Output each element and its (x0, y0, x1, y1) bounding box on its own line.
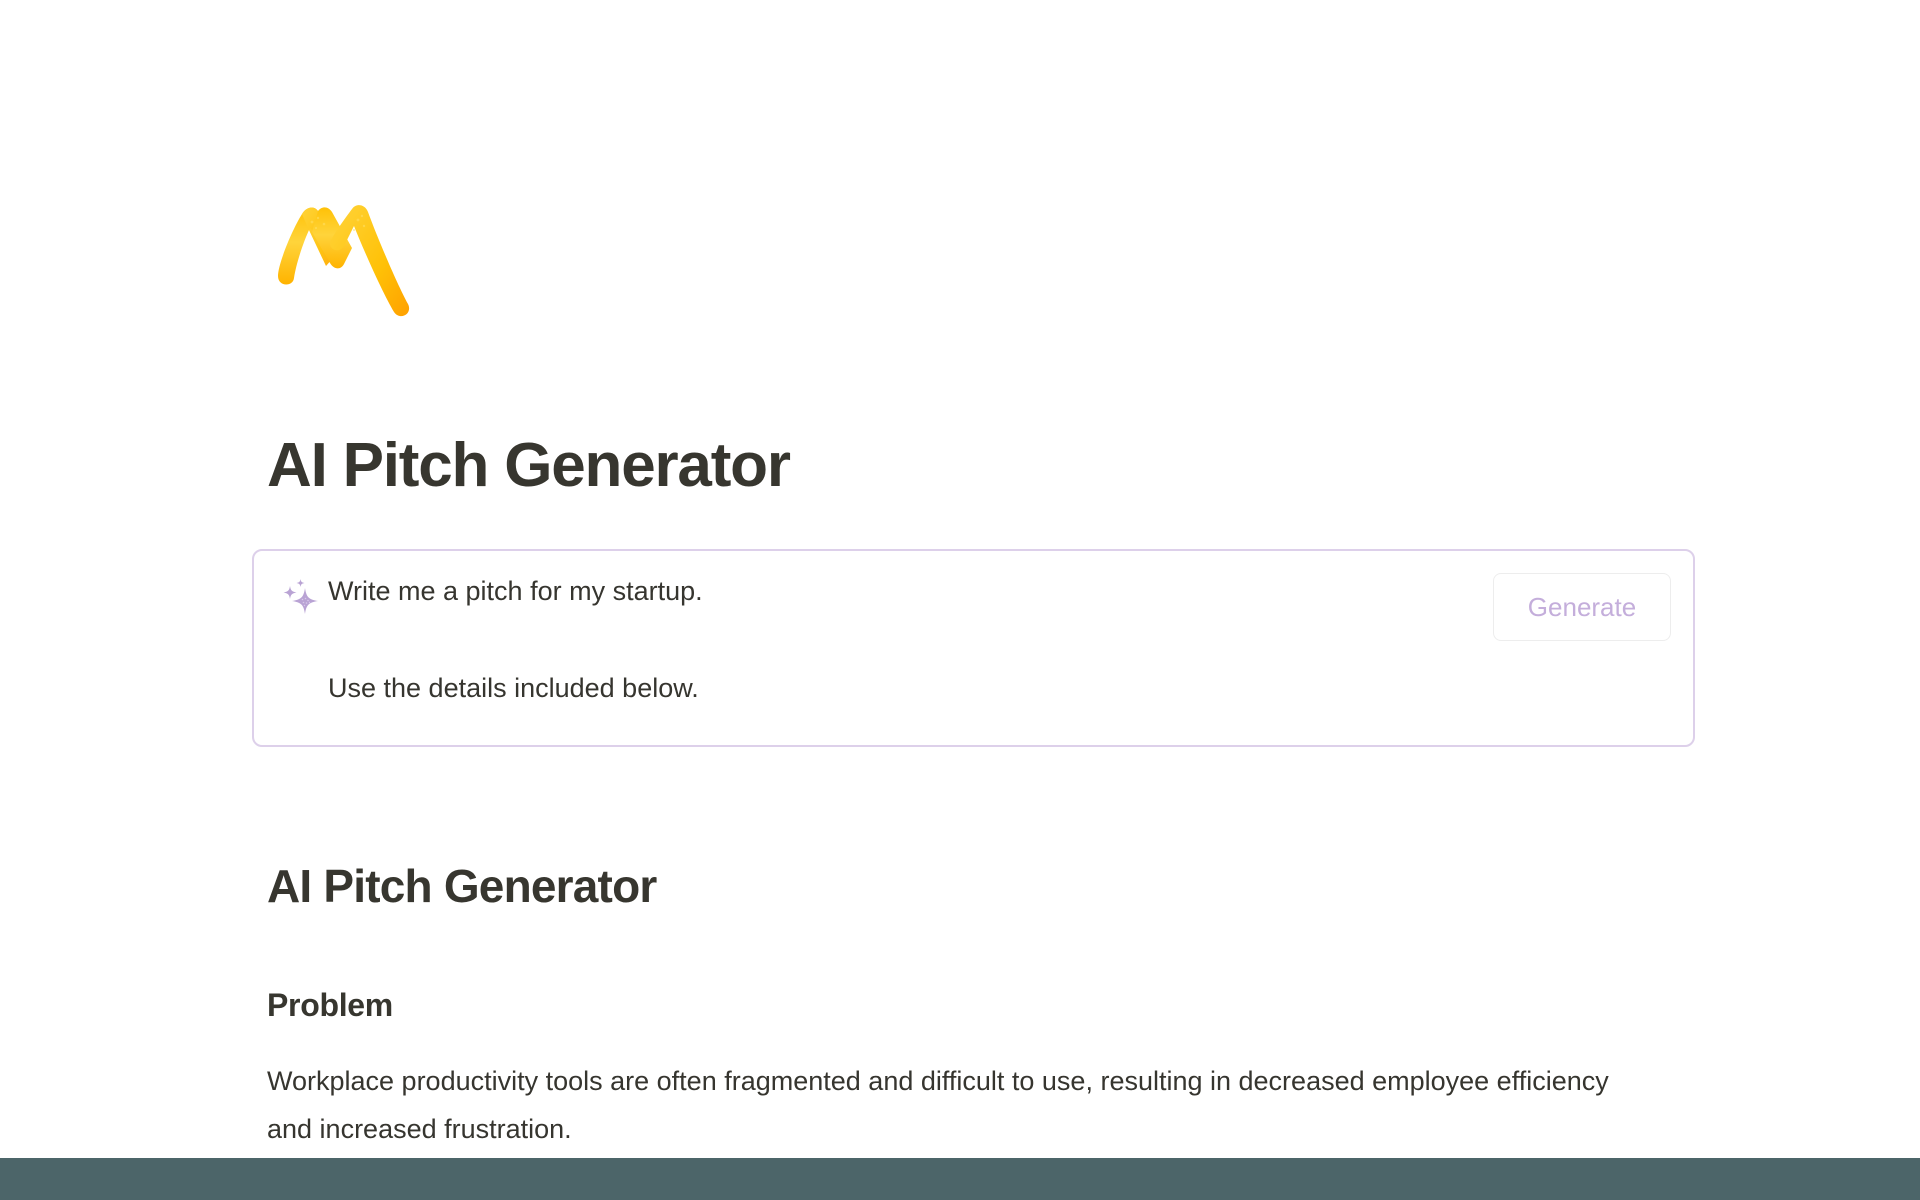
sparkle-icon (280, 577, 322, 621)
prompt-text-group: Write me a pitch for my startup. Use the… (328, 571, 1673, 706)
section-heading-problem: Problem (267, 985, 393, 1025)
brand-logo (268, 190, 428, 320)
section-body-problem: Workplace productivity tools are often f… (267, 1057, 1657, 1153)
prompt-line-1[interactable]: Write me a pitch for my startup. (328, 573, 1673, 609)
generate-button[interactable]: Generate (1493, 573, 1671, 641)
result-title: AI Pitch Generator (267, 858, 656, 914)
prompt-line-2[interactable]: Use the details included below. (328, 670, 1673, 706)
prompt-content: Write me a pitch for my startup. Use the… (280, 571, 1673, 706)
page-title: AI Pitch Generator (267, 430, 790, 502)
app-page: AI Pitch Generator (0, 0, 1920, 1200)
bottom-bar (0, 1158, 1920, 1200)
prompt-card[interactable]: Write me a pitch for my startup. Use the… (252, 549, 1695, 747)
mailchimp-m-logo-icon (268, 190, 428, 320)
